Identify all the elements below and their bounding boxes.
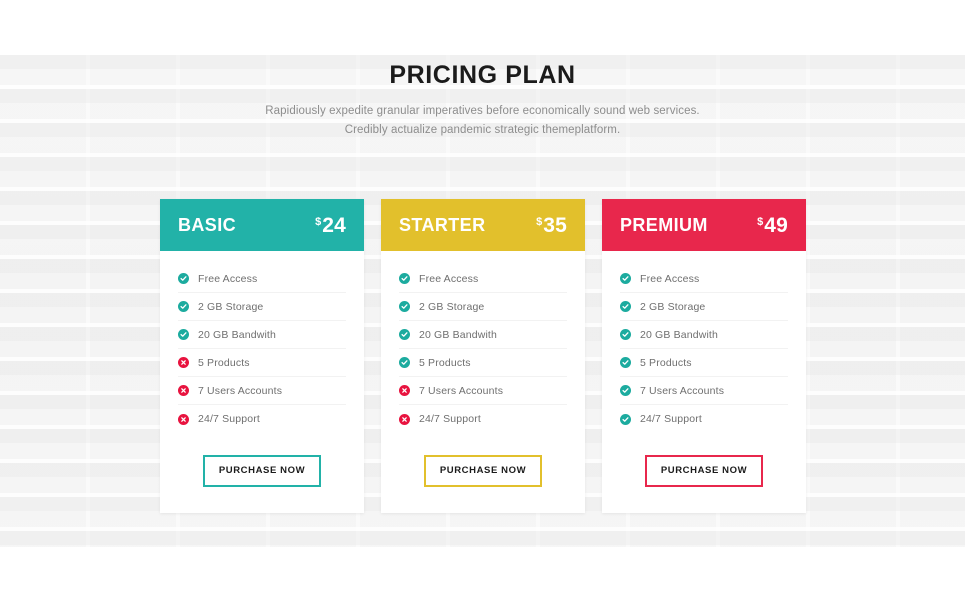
feature-item: 24/7 Support — [178, 405, 346, 433]
price-currency-symbol: $ — [315, 217, 321, 228]
feature-item: Free Access — [620, 265, 788, 293]
price-amount: 24 — [322, 215, 346, 236]
subtitle-line-2: Credibly actualize pandemic strategic th… — [0, 121, 965, 140]
cross-icon — [178, 357, 189, 368]
feature-item: Free Access — [178, 265, 346, 293]
feature-list: Free Access2 GB Storage20 GB Bandwith5 P… — [602, 251, 806, 433]
plan-name: STARTER — [399, 215, 485, 236]
feature-label: 20 GB Bandwith — [640, 329, 718, 341]
feature-label: 20 GB Bandwith — [419, 329, 497, 341]
feature-label: 2 GB Storage — [198, 301, 263, 313]
plan-name: BASIC — [178, 215, 236, 236]
feature-label: 5 Products — [419, 357, 471, 369]
check-icon — [620, 329, 631, 340]
price-currency-symbol: $ — [536, 217, 542, 228]
pricing-page: PRICING PLAN Rapidiously expedite granul… — [0, 0, 965, 600]
plan-price: $49 — [757, 215, 788, 236]
feature-item: Free Access — [399, 265, 567, 293]
feature-list: Free Access2 GB Storage20 GB Bandwith5 P… — [381, 251, 585, 433]
feature-item: 20 GB Bandwith — [399, 321, 567, 349]
feature-item: 24/7 Support — [620, 405, 788, 433]
feature-item: 2 GB Storage — [620, 293, 788, 321]
check-icon — [399, 301, 410, 312]
page-subtitle: Rapidiously expedite granular imperative… — [0, 102, 965, 140]
check-icon — [399, 357, 410, 368]
check-icon — [620, 301, 631, 312]
feature-label: 5 Products — [198, 357, 250, 369]
pricing-card-premium: PREMIUM$49Free Access2 GB Storage20 GB B… — [602, 199, 806, 513]
check-icon — [620, 357, 631, 368]
page-title: PRICING PLAN — [0, 60, 965, 90]
check-icon — [620, 385, 631, 396]
feature-label: 20 GB Bandwith — [198, 329, 276, 341]
card-footer: PURCHASE NOW — [602, 433, 806, 513]
plan-name: PREMIUM — [620, 215, 708, 236]
feature-label: Free Access — [419, 273, 478, 285]
plan-price: $35 — [536, 215, 567, 236]
card-footer: PURCHASE NOW — [381, 433, 585, 513]
cross-icon — [399, 385, 410, 396]
feature-label: 24/7 Support — [198, 413, 260, 425]
feature-label: 7 Users Accounts — [198, 385, 282, 397]
section-heading: PRICING PLAN Rapidiously expedite granul… — [0, 60, 965, 140]
check-icon — [399, 273, 410, 284]
pricing-card-starter: STARTER$35Free Access2 GB Storage20 GB B… — [381, 199, 585, 513]
feature-label: 24/7 Support — [419, 413, 481, 425]
feature-item: 2 GB Storage — [178, 293, 346, 321]
check-icon — [620, 414, 631, 425]
feature-item: 5 Products — [178, 349, 346, 377]
feature-item: 24/7 Support — [399, 405, 567, 433]
feature-label: 24/7 Support — [640, 413, 702, 425]
feature-label: 7 Users Accounts — [640, 385, 724, 397]
feature-item: 7 Users Accounts — [620, 377, 788, 405]
feature-item: 20 GB Bandwith — [620, 321, 788, 349]
cross-icon — [178, 414, 189, 425]
feature-label: Free Access — [640, 273, 699, 285]
subtitle-line-1: Rapidiously expedite granular imperative… — [0, 102, 965, 121]
check-icon — [178, 301, 189, 312]
feature-item: 7 Users Accounts — [399, 377, 567, 405]
card-header: STARTER$35 — [381, 199, 585, 251]
feature-label: 2 GB Storage — [640, 301, 705, 313]
feature-label: 7 Users Accounts — [419, 385, 503, 397]
purchase-now-button[interactable]: PURCHASE NOW — [645, 455, 763, 487]
card-header: PREMIUM$49 — [602, 199, 806, 251]
plan-price: $24 — [315, 215, 346, 236]
card-footer: PURCHASE NOW — [160, 433, 364, 513]
feature-item: 2 GB Storage — [399, 293, 567, 321]
feature-label: 5 Products — [640, 357, 692, 369]
feature-item: 5 Products — [620, 349, 788, 377]
feature-item: 5 Products — [399, 349, 567, 377]
price-currency-symbol: $ — [757, 217, 763, 228]
feature-label: 2 GB Storage — [419, 301, 484, 313]
purchase-now-button[interactable]: PURCHASE NOW — [203, 455, 321, 487]
feature-item: 7 Users Accounts — [178, 377, 346, 405]
check-icon — [178, 273, 189, 284]
cross-icon — [399, 414, 410, 425]
pricing-card-basic: BASIC$24Free Access2 GB Storage20 GB Ban… — [160, 199, 364, 513]
price-amount: 49 — [764, 215, 788, 236]
check-icon — [399, 329, 410, 340]
pricing-card-grid: BASIC$24Free Access2 GB Storage20 GB Ban… — [160, 199, 806, 513]
feature-list: Free Access2 GB Storage20 GB Bandwith5 P… — [160, 251, 364, 433]
feature-item: 20 GB Bandwith — [178, 321, 346, 349]
purchase-now-button[interactable]: PURCHASE NOW — [424, 455, 542, 487]
check-icon — [620, 273, 631, 284]
card-header: BASIC$24 — [160, 199, 364, 251]
feature-label: Free Access — [198, 273, 257, 285]
price-amount: 35 — [543, 215, 567, 236]
cross-icon — [178, 385, 189, 396]
check-icon — [178, 329, 189, 340]
